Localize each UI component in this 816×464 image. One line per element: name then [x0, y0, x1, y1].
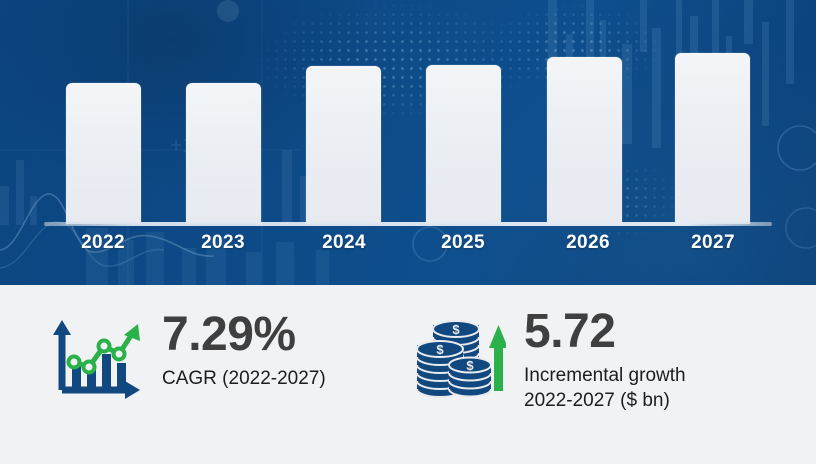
incremental-growth-label: Incremental growth 2022-2027 ($ bn): [524, 364, 686, 413]
svg-text:$: $: [452, 322, 460, 337]
x-axis-label-2023: 2023: [173, 232, 273, 254]
incremental-growth-value: 5.72: [524, 307, 686, 357]
bar-chart: 2022 2023 2024 2025 2026 2027: [0, 0, 816, 285]
stat-text-cagr: 7.29% CAGR (2022-2027): [162, 310, 326, 392]
cagr-label: CAGR (2022-2027): [162, 367, 326, 392]
x-axis-label-2026: 2026: [538, 232, 638, 254]
x-axis-label-2025: 2025: [413, 232, 513, 254]
stat-block-incremental-growth: $ $ $ 5.72 Incremental growth 2022-2027 …: [414, 307, 686, 413]
bar-chart-trend-up-icon: [48, 314, 144, 405]
chart-panel: +1.45%: [0, 0, 816, 285]
bar-2027: [675, 53, 750, 224]
bar-2026: [547, 57, 622, 224]
incremental-growth-label-line1: Incremental growth: [524, 365, 686, 386]
infographic-root: +1.45%: [0, 0, 816, 464]
bar-2022: [66, 83, 141, 224]
chart-axis-line: [44, 222, 772, 226]
svg-text:$: $: [436, 342, 444, 357]
incremental-growth-label-line2: 2022-2027 ($ bn): [524, 389, 686, 414]
x-axis-label-2024: 2024: [294, 232, 394, 254]
x-axis-label-2022: 2022: [53, 232, 153, 254]
x-axis-label-2027: 2027: [663, 232, 763, 254]
svg-text:$: $: [466, 358, 474, 373]
stat-text-incremental-growth: 5.72 Incremental growth 2022-2027 ($ bn): [524, 307, 686, 413]
cagr-value: 7.29%: [162, 310, 326, 360]
stat-block-cagr: 7.29% CAGR (2022-2027): [48, 310, 326, 405]
bar-2023: [186, 83, 261, 224]
coin-stacks-arrow-up-icon: $ $ $: [414, 311, 506, 408]
bar-2025: [426, 65, 501, 224]
stats-panel: 7.29% CAGR (2022-2027): [0, 285, 816, 464]
bar-2024: [306, 66, 381, 224]
